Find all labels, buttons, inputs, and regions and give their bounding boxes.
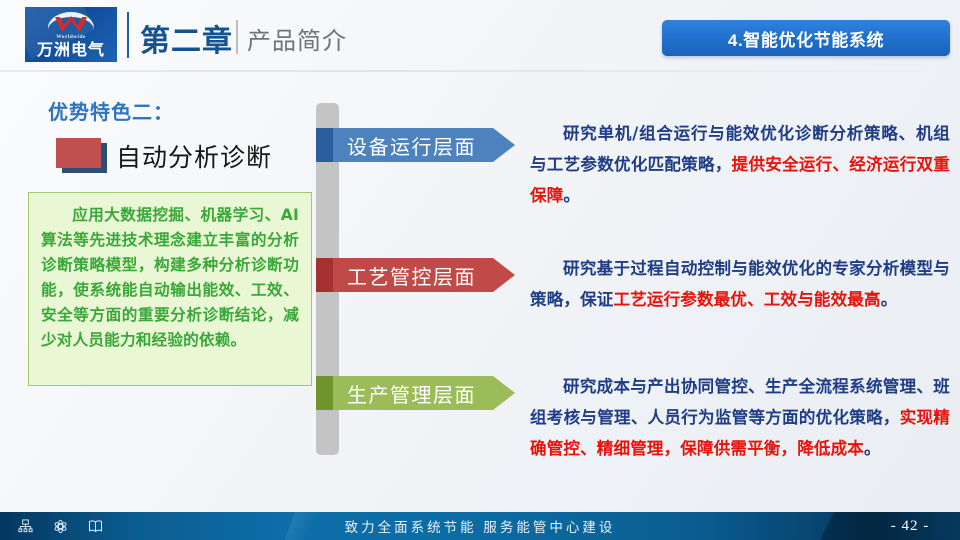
- advantage-title: 优势特色二：: [48, 96, 174, 125]
- chapter-title: 第二章: [140, 16, 233, 60]
- bullet-square-icon: [56, 138, 101, 168]
- layer-body-2: 研究基于过程自动控制与能效优化的专家分析模型与策略，保证工艺运行参数最优、工效与…: [530, 253, 950, 315]
- layer-body-3-tail: 。: [864, 439, 881, 458]
- section-banner-label: 4.智能优化节能系统: [662, 20, 950, 56]
- page-number: - 42 -: [880, 512, 940, 540]
- layer-chevron-label-3: 生产管理层面: [347, 379, 476, 408]
- logo-company-name: 万洲电气: [25, 41, 117, 61]
- layer-chevron-process[interactable]: 工艺管控层面: [333, 258, 515, 292]
- section-banner: 4.智能优化节能系统: [662, 20, 950, 56]
- header-accent-bar: [127, 12, 129, 58]
- layer-chevron-label-1: 设备运行层面: [347, 131, 476, 160]
- layer-body-3-plain: 研究成本与产出协同管控、生产全流程系统管理、班组考核与管理、人员行为监管等方面的…: [530, 377, 950, 427]
- company-logo: Worldwide 万洲电气: [25, 7, 117, 62]
- layer-body-1: 研究单机/组合运行与能效优化诊断分析策略、机组与工艺参数优化匹配策略，提供安全运…: [530, 118, 950, 211]
- logo-emblem-icon: [45, 12, 97, 34]
- header-divider-rule: [0, 70, 960, 72]
- description-callout-text: 应用大数据挖掘、机器学习、AI算法等先进技术理念建立丰富的分析诊断策略模型，构建…: [29, 193, 311, 353]
- description-callout-box: 应用大数据挖掘、机器学习、AI算法等先进技术理念建立丰富的分析诊断策略模型，构建…: [28, 192, 312, 386]
- layer-body-3: 研究成本与产出协同管控、生产全流程系统管理、班组考核与管理、人员行为监管等方面的…: [530, 371, 950, 464]
- chapter-separator: [236, 20, 238, 54]
- slide-canvas: Worldwide 万洲电气 第二章 产品简介 4.智能优化节能系统 优势特色二…: [0, 0, 960, 540]
- layer-chevron-equipment[interactable]: 设备运行层面: [333, 128, 515, 162]
- logo-sub-text: Worldwide: [25, 34, 117, 40]
- layer-chevron-label-2: 工艺管控层面: [347, 261, 476, 290]
- footer-slogan: 致力全面系统节能 服务能管中心建设: [0, 512, 960, 540]
- layer-body-2-highlight: 工艺运行参数最优、工效与能效最高: [614, 290, 881, 309]
- chapter-subtitle: 产品简介: [247, 21, 347, 56]
- layer-body-1-tail: 。: [563, 186, 580, 205]
- layer-chevron-production[interactable]: 生产管理层面: [333, 376, 515, 410]
- layer-body-2-tail: 。: [881, 290, 898, 309]
- feature-subtitle: 自动分析诊断: [116, 138, 272, 174]
